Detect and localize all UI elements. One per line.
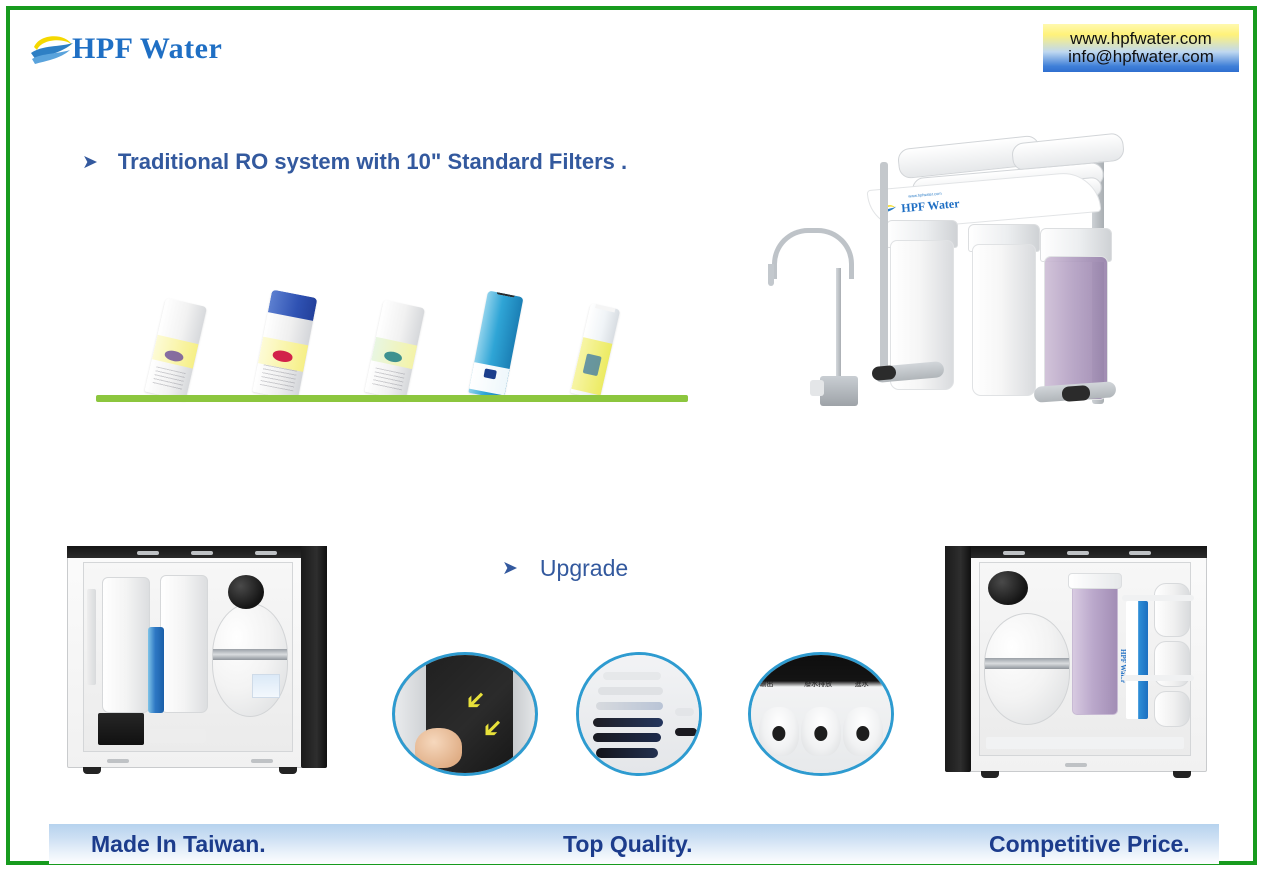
cartridge-pp xyxy=(145,298,208,401)
cartridge-cap xyxy=(268,290,318,321)
green-baseline xyxy=(96,395,688,402)
faucet-neck xyxy=(772,228,854,279)
tank-label xyxy=(252,674,279,698)
booster-pump xyxy=(228,575,264,609)
membrane-label-strip: HPF Water xyxy=(1126,601,1148,719)
cartridge-cto xyxy=(252,290,317,401)
brand-logo: HPF Water xyxy=(28,26,268,72)
vent-slot xyxy=(593,718,663,727)
vent-slot xyxy=(675,708,694,716)
cabinet-top-slot xyxy=(137,551,159,555)
cabinet-side-panel xyxy=(945,546,971,772)
booster-pump xyxy=(988,571,1028,605)
cabinet-foot xyxy=(981,771,999,778)
filter-vessel-1 xyxy=(102,577,150,713)
bullet-upgrade: ➤ Upgrade xyxy=(502,555,628,582)
detail-circle-quick-fittings: 輸出 廢水排放 進水 xyxy=(748,652,894,776)
faucet-knob xyxy=(810,380,824,396)
cabinet-top-slot xyxy=(1003,551,1025,555)
ro-housing-stage-2 xyxy=(972,244,1036,396)
cabinet-foot xyxy=(1173,771,1191,778)
cartridge-label-band xyxy=(469,362,509,395)
cabinet-top-slot xyxy=(191,551,213,555)
detail-circle-ventilation-slots xyxy=(576,652,702,776)
cabinet-foot xyxy=(279,767,297,774)
vent-slot xyxy=(596,702,663,710)
cabinet-unit-right-photo: HPF Water xyxy=(945,546,1207,772)
cabinet-bottom-slot xyxy=(251,759,273,763)
sun-wave-logo-icon xyxy=(28,29,76,69)
bullet-arrow-icon: ➤ xyxy=(82,153,98,172)
ro-foot-cap-right xyxy=(1062,385,1091,402)
slogan-banner: Made In Taiwan. Top Quality. Competitive… xyxy=(49,824,1219,864)
vent-slot xyxy=(593,733,660,742)
contact-info-box: www.hpfwater.com info@hpfwater.com xyxy=(1043,24,1239,72)
post-filter xyxy=(1154,691,1190,727)
bullet-upgrade-text: Upgrade xyxy=(540,555,628,582)
quick-fitting-port xyxy=(801,707,840,757)
filter-vessel-2 xyxy=(160,575,208,713)
base-tray xyxy=(986,737,1184,749)
valve-block xyxy=(148,729,206,743)
quick-fitting-port xyxy=(759,707,798,757)
cartridge-ro-membrane xyxy=(468,290,523,399)
port-label-inlet: 進水 xyxy=(855,679,869,689)
faucet-stem xyxy=(836,268,841,378)
cabinet-interior xyxy=(83,562,293,752)
cabinet-edge-right xyxy=(513,655,535,773)
cabinet-top-slot xyxy=(1067,551,1089,555)
bullet-arrow-icon: ➤ xyxy=(502,559,518,578)
vent-slot xyxy=(603,672,661,680)
pressure-tank xyxy=(212,603,288,717)
detail-circle-easy-open-panel: ➔ ➔ xyxy=(392,652,538,776)
port-label-outlet: 輸出 xyxy=(759,679,773,689)
email-text[interactable]: info@hpfwater.com xyxy=(1068,48,1214,66)
cartridge-text-lines xyxy=(152,366,186,392)
cabinet-bottom-slot xyxy=(1065,763,1087,767)
port-hole xyxy=(814,726,827,741)
slogan-top-quality: Top Quality. xyxy=(563,831,692,858)
bullet-main-text: Traditional RO system with 10" Standard … xyxy=(118,149,627,175)
mounting-clip xyxy=(1122,675,1194,681)
ro-housing-stage-3 xyxy=(1044,256,1108,400)
ro-system-photo: HPF Water www.hpfwater.com xyxy=(762,128,1142,424)
slide-frame: HPF Water www.hpfwater.com info@hpfwater… xyxy=(6,6,1257,865)
hand-icon xyxy=(415,728,463,768)
tank-ring xyxy=(985,658,1069,669)
faucet-spout xyxy=(768,264,774,286)
ro-banner-text: HPF Water xyxy=(901,196,960,216)
bullet-traditional-ro: ➤ Traditional RO system with 10" Standar… xyxy=(82,149,627,175)
pressure-tank xyxy=(984,613,1070,725)
quick-fitting-port xyxy=(843,707,882,757)
mounting-clip xyxy=(1122,595,1194,601)
cabinet-unit-left-photo xyxy=(67,546,327,768)
port-hole xyxy=(772,726,785,741)
power-transformer xyxy=(98,713,144,745)
cartridge-post-carbon xyxy=(570,303,620,399)
brand-logo-text: HPF Water xyxy=(72,32,222,66)
port-hole xyxy=(856,726,869,741)
slogan-made-in-taiwan: Made In Taiwan. xyxy=(91,831,266,858)
blue-membrane-housing xyxy=(148,627,164,713)
vent-slot xyxy=(675,728,697,736)
inner-left-rail xyxy=(87,589,96,685)
cabinet-foot xyxy=(83,767,101,774)
slogan-competitive-price: Competitive Price. xyxy=(989,831,1190,858)
cartridge-text-lines xyxy=(372,367,405,392)
filter-cartridges-photo xyxy=(96,282,688,402)
tank-ring xyxy=(213,649,287,660)
vent-slot xyxy=(598,687,663,695)
membrane-o-ring xyxy=(497,290,516,297)
vent-slot xyxy=(596,748,658,757)
cartridge-tip xyxy=(595,303,616,312)
website-text[interactable]: www.hpfwater.com xyxy=(1070,30,1212,48)
port-label-drain: 廢水排放 xyxy=(804,679,832,689)
cabinet-top-slot xyxy=(255,551,277,555)
faucet-base xyxy=(820,376,858,406)
cabinet-bottom-slot xyxy=(107,759,129,763)
vessel-cap xyxy=(1068,573,1122,589)
post-filter xyxy=(1154,583,1190,637)
cabinet-interior: HPF Water xyxy=(979,562,1191,756)
cabinet-side-panel xyxy=(301,546,327,768)
ro-frame-left xyxy=(880,162,888,380)
cartridge-pp-1u xyxy=(364,300,425,401)
cabinet-top-slot xyxy=(1129,551,1151,555)
clear-filter-vessel xyxy=(1072,579,1118,715)
